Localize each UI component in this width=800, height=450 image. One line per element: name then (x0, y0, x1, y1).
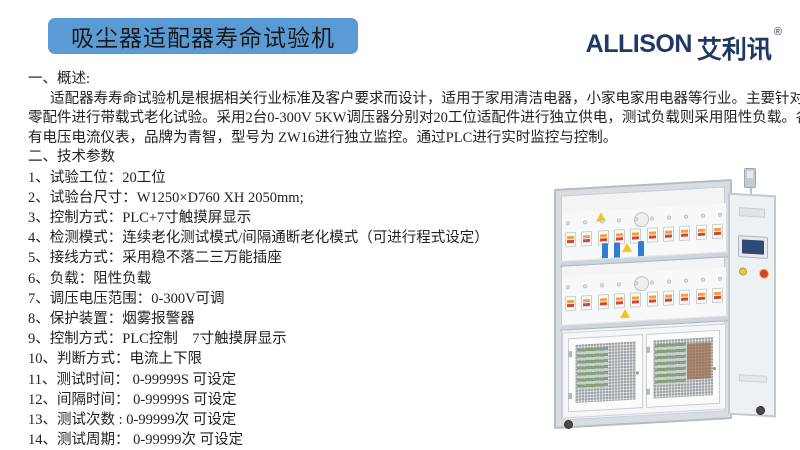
overview-line-3: 有电压电流仪表，品牌为青智，型号为 ZW16进行独立监控。通过PLC进行实时监控… (28, 129, 788, 149)
brand-name-english: ALLISON (586, 30, 692, 59)
test-socket (712, 288, 723, 304)
test-machine-illustration (550, 176, 782, 434)
indicator-lamp (600, 283, 604, 287)
hmi-touchscreen[interactable] (738, 235, 768, 259)
test-socket (630, 292, 641, 308)
test-socket (565, 296, 576, 312)
cabinet-door-right (646, 330, 721, 408)
page-header: 吸尘器适配器寿命试验机 ALLISON 艾利讯 ® (0, 0, 800, 72)
test-socket (696, 288, 707, 304)
indicator-lamp (600, 219, 604, 223)
page-title: 吸尘器适配器寿命试验机 (71, 19, 335, 53)
test-socket (614, 293, 625, 309)
overview-heading: 一、概述: (28, 70, 788, 90)
indicator-lamp (634, 281, 638, 285)
test-socket (679, 225, 690, 241)
blue-adapter-plug (638, 241, 644, 257)
door-latch-icon (713, 367, 716, 370)
indicator-lamp (583, 284, 587, 288)
door-hinge (646, 347, 650, 353)
emergency-stop-button[interactable] (759, 268, 769, 279)
door-hinge (568, 351, 572, 357)
test-socket (663, 290, 674, 306)
brand-name-chinese: 艾利讯 (697, 30, 772, 66)
resistive-load-bank (687, 342, 711, 379)
resistive-load-bank (655, 343, 686, 385)
test-socket (565, 232, 576, 248)
title-banner: 吸尘器适配器寿命试验机 (48, 18, 358, 54)
control-panel-lower-plate (739, 374, 767, 383)
test-socket (581, 295, 592, 311)
overview-line-1: 适配器寿寿命试验机是根据相关行业标准及客户要求而设计，适用于家用清洁电器，小家电… (28, 90, 788, 110)
test-socket (647, 291, 658, 307)
indicator-lamp (718, 213, 722, 217)
indicator-lamp (650, 216, 654, 220)
door-latch-icon (636, 371, 639, 374)
brand-logo: ALLISON 艾利讯 ® (586, 30, 782, 66)
indicator-lamp (634, 217, 638, 221)
test-socket (663, 226, 674, 242)
test-socket (712, 224, 723, 240)
indicator-lamp (617, 218, 621, 222)
hmi-screen-display[interactable] (742, 239, 764, 254)
warning-triangle-icon (622, 243, 632, 253)
indicator-lamp (667, 279, 671, 283)
indicator-lamp (718, 277, 722, 281)
blue-adapter-plug (614, 242, 620, 258)
control-panel-column (728, 193, 776, 418)
indicator-lamp (667, 215, 671, 219)
indicator-lamp (701, 214, 705, 218)
test-socket (647, 227, 658, 243)
registered-trademark-icon: ® (774, 26, 782, 38)
indicator-lamp (650, 280, 654, 284)
indicator-lamp (617, 282, 621, 286)
indicator-lamp (684, 279, 688, 283)
ventilation-mesh (653, 337, 714, 398)
load-bank-cabinet (562, 323, 726, 418)
indicator-lamp (566, 285, 570, 289)
start-button[interactable] (739, 267, 747, 275)
test-socket (598, 294, 609, 310)
caster-wheel (756, 406, 765, 415)
indicator-lamp (701, 278, 705, 282)
test-socket (696, 224, 707, 240)
test-socket (581, 231, 592, 247)
test-socket (679, 289, 690, 305)
signal-tower-light-icon (744, 168, 756, 188)
indicator-lamp (684, 215, 688, 219)
blue-adapter-plug (602, 243, 608, 259)
indicator-lamp (566, 221, 570, 225)
indicator-lamp (583, 220, 587, 224)
machine-photo (492, 162, 792, 450)
ventilation-mesh (575, 341, 636, 402)
overview-line-2: 零配件进行带载式老化试验。采用2台0-300V 5KW调压器分别对20工位适配件… (28, 109, 788, 129)
caster-wheel (564, 420, 573, 429)
resistive-load-bank (577, 347, 608, 389)
door-hinge (646, 389, 650, 395)
control-button-row (739, 267, 769, 279)
warning-triangle-icon (620, 309, 630, 319)
door-hinge (568, 393, 572, 399)
cabinet-door-left (568, 334, 643, 412)
control-panel-nameplate (739, 207, 765, 218)
